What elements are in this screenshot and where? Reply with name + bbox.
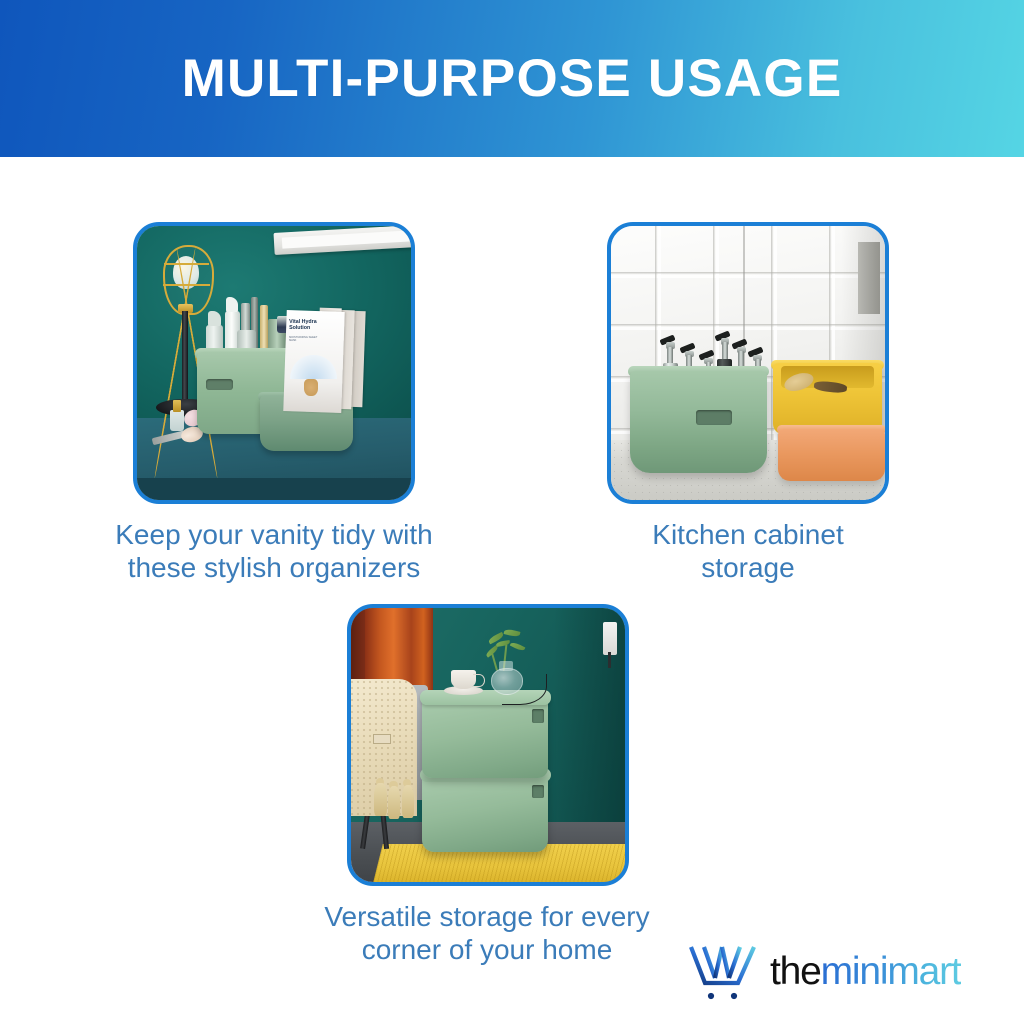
cart-wheel [708, 993, 714, 999]
floor-lamp-stem [608, 652, 611, 668]
photo-kitchen [611, 226, 885, 500]
image-card-vanity[interactable]: Vital Hydra Solution MOISTURIZING SHEET … [133, 222, 415, 504]
tassel [388, 786, 400, 819]
lamp-pole [182, 311, 188, 404]
lamp-cage-ring [163, 284, 210, 286]
box-handle-cutout [206, 379, 233, 390]
box-handle-cutout [532, 785, 544, 799]
pump-head [208, 311, 222, 326]
brand-logo[interactable]: theminimart [688, 938, 1008, 1004]
nail-polish-bottle [170, 410, 184, 432]
glass-vase [491, 668, 523, 695]
cup-handle [473, 674, 485, 687]
brand-word-the: the [770, 950, 821, 993]
caption-kitchen: Kitchen cabinet storage [560, 518, 936, 584]
box-handle-cutout [532, 709, 544, 723]
tassel [402, 785, 414, 818]
green-storage-box-lower [422, 775, 548, 852]
green-storage-box-upper [422, 698, 548, 777]
tassel [374, 783, 386, 816]
nail-polish-cap [173, 400, 181, 412]
floor-lamp-shade [603, 622, 617, 655]
packet-subtext: MOISTURIZING SHEET MASK [289, 336, 325, 343]
packet-logo-mark [304, 379, 318, 395]
coffee-cup [451, 670, 476, 689]
page-title: MULTI-PURPOSE USAGE [182, 52, 843, 105]
desk-edge [137, 478, 411, 500]
bin-handle-cutout [696, 410, 732, 425]
cart-wheel [731, 993, 737, 999]
photo-home [351, 608, 625, 882]
pump-head [226, 297, 239, 312]
page-header: MULTI-PURPOSE USAGE [0, 0, 1024, 157]
blanket-tag [373, 734, 391, 744]
brand-wordmark: theminimart [770, 952, 961, 991]
photo-vanity: Vital Hydra Solution MOISTURIZING SHEET … [137, 226, 411, 500]
caption-vanity: Keep your vanity tidy with these stylish… [34, 518, 514, 584]
image-card-home[interactable] [347, 604, 629, 886]
packet-title: Vital Hydra Solution [289, 319, 330, 331]
shopping-cart-icon [688, 941, 762, 1001]
lamp-cage-ring [164, 263, 208, 265]
image-card-kitchen[interactable] [607, 222, 889, 504]
orange-storage-bin [778, 429, 885, 481]
caption-home: Versatile storage for every corner of yo… [252, 900, 722, 966]
brand-word-minimart: minimart [821, 950, 961, 993]
